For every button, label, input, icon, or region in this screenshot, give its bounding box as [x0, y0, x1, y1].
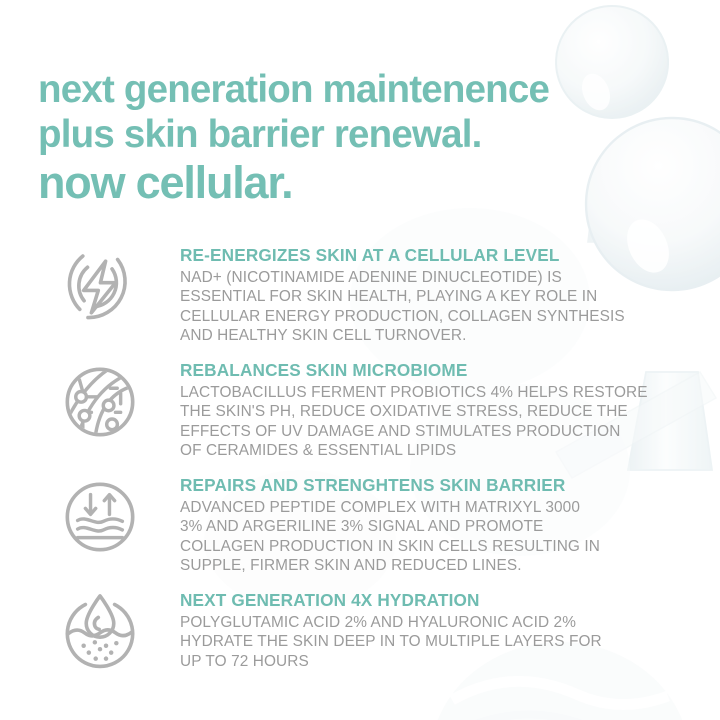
feature-list: RE-ENERGIZES SKIN AT A CELLULAR LEVEL NA…	[0, 238, 720, 693]
product-benefits-poster: next generation maintenence plus skin ba…	[0, 0, 720, 720]
feature-title: REBALANCES SKIN MICROBIOME	[180, 360, 720, 381]
feature-body: ADVANCED PEPTIDE COMPLEX WITH MATRIXYL 3…	[180, 498, 720, 575]
skin-barrier-arrows-icon	[57, 474, 143, 560]
water-droplet-hydration-icon	[57, 589, 143, 675]
feature-item-rebalances-microbiome: REBALANCES SKIN MICROBIOME LACTOBACILLUS…	[0, 353, 720, 468]
feature-text-block: NEXT GENERATION 4X HYDRATION POLYGLUTAMI…	[143, 583, 720, 671]
feature-body: NAD+ (NICOTINAMIDE ADENINE DINUCLEOTIDE)…	[180, 268, 720, 345]
headline-line-1: next generation maintenence	[38, 67, 708, 112]
headline-line-3: now cellular.	[38, 158, 708, 208]
feature-body: LACTOBACILLUS FERMENT PROBIOTICS 4% HELP…	[180, 383, 720, 460]
page-title: next generation maintenence plus skin ba…	[38, 67, 708, 208]
feature-title: RE-ENERGIZES SKIN AT A CELLULAR LEVEL	[180, 245, 720, 266]
lightning-bolt-energy-icon	[57, 244, 143, 330]
feature-title: NEXT GENERATION 4X HYDRATION	[180, 590, 720, 611]
microbiome-network-icon	[57, 359, 143, 445]
feature-title: REPAIRS AND STRENGHTENS SKIN BARRIER	[180, 475, 720, 496]
headline-line-2: plus skin barrier renewal.	[38, 112, 708, 157]
feature-body: POLYGLUTAMIC ACID 2% AND HYALURONIC ACID…	[180, 613, 720, 671]
feature-text-block: REPAIRS AND STRENGHTENS SKIN BARRIER ADV…	[143, 468, 720, 575]
feature-item-re-energizes: RE-ENERGIZES SKIN AT A CELLULAR LEVEL NA…	[0, 238, 720, 353]
feature-text-block: RE-ENERGIZES SKIN AT A CELLULAR LEVEL NA…	[143, 238, 720, 345]
feature-item-hydration: NEXT GENERATION 4X HYDRATION POLYGLUTAMI…	[0, 583, 720, 693]
feature-text-block: REBALANCES SKIN MICROBIOME LACTOBACILLUS…	[143, 353, 720, 460]
feature-item-repairs-barrier: REPAIRS AND STRENGHTENS SKIN BARRIER ADV…	[0, 468, 720, 583]
